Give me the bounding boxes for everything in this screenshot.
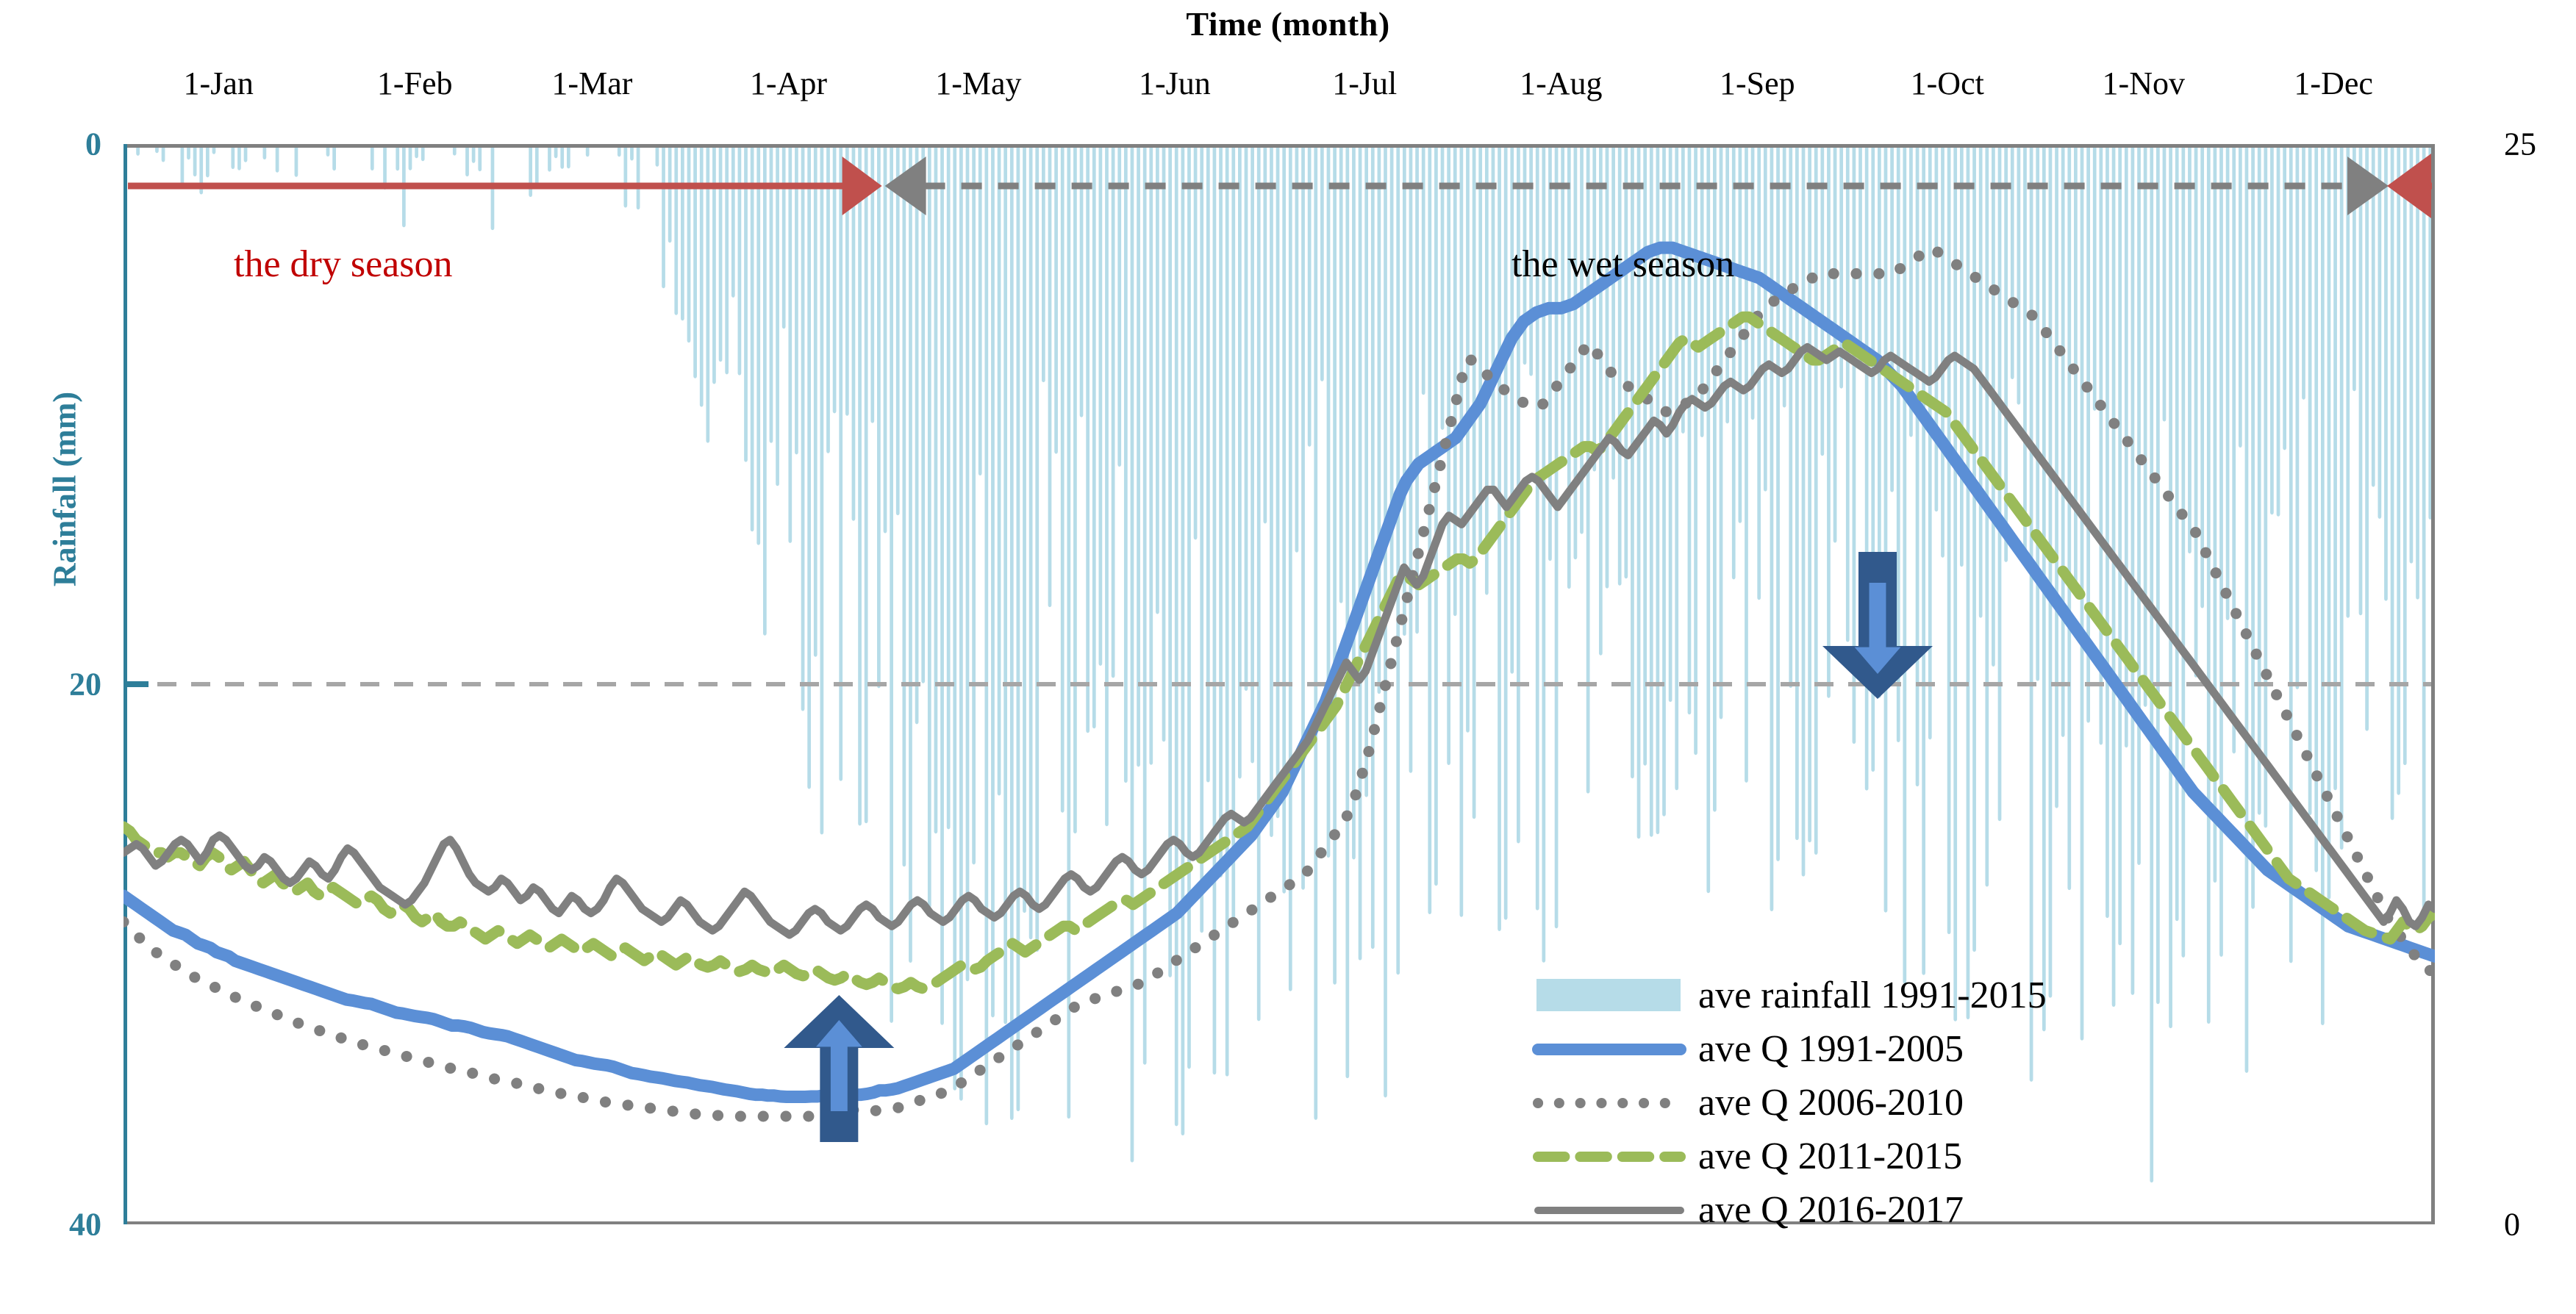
- legend-item-3[interactable]: ave Q 2011-2015: [1523, 1130, 2229, 1183]
- x-tick-1-jan: 1-Jan: [184, 65, 254, 102]
- x-tick-1-sep: 1-Sep: [1720, 65, 1795, 102]
- page-title: Time (month): [0, 4, 2576, 43]
- x-tick-1-mar: 1-Mar: [551, 65, 632, 102]
- legend-swatch-3: [1523, 1130, 1692, 1183]
- legend-line-swatch: [1523, 1183, 1692, 1237]
- legend-area-swatch: [1536, 979, 1681, 1011]
- x-tick-1-oct: 1-Oct: [1911, 65, 1984, 102]
- x-tick-1-feb: 1-Feb: [377, 65, 453, 102]
- legend: ave rainfall 1991-2015 ave Q 1991-2005av…: [1523, 969, 2229, 1237]
- legend-swatch-1: [1523, 1022, 1692, 1076]
- legend-label-0: ave rainfall 1991-2015: [1692, 974, 2047, 1017]
- legend-swatch-0: [1523, 969, 1692, 1022]
- legend-item-0[interactable]: ave rainfall 1991-2015: [1523, 969, 2229, 1022]
- x-tick-1-may: 1-May: [935, 65, 1021, 102]
- legend-swatch-4: [1523, 1183, 1692, 1237]
- right-y-tick-0: 0: [2504, 1206, 2520, 1243]
- chart-canvas: Time (month) 1-Jan1-Feb1-Mar1-Apr1-May1-…: [0, 0, 2576, 1314]
- left-axis-title: Rainfall (mm): [46, 357, 84, 622]
- legend-label-2: ave Q 2006-2010: [1692, 1081, 1964, 1124]
- legend-label-4: ave Q 2016-2017: [1692, 1188, 1964, 1232]
- right-y-tick-25: 25: [2504, 126, 2536, 163]
- wet-season-label: the wet season: [1511, 243, 1734, 286]
- legend-item-1[interactable]: ave Q 1991-2005: [1523, 1022, 2229, 1076]
- legend-swatch-2: [1523, 1076, 1692, 1130]
- legend-item-4[interactable]: ave Q 2016-2017: [1523, 1183, 2229, 1237]
- legend-line-swatch: [1523, 1076, 1692, 1130]
- legend-item-2[interactable]: ave Q 2006-2010: [1523, 1076, 2229, 1130]
- x-tick-1-nov: 1-Nov: [2103, 65, 2185, 102]
- legend-line-swatch: [1523, 1022, 1692, 1076]
- dry-season-label: the dry season: [234, 243, 452, 286]
- legend-label-3: ave Q 2011-2015: [1692, 1135, 1962, 1178]
- x-tick-1-jun: 1-Jun: [1139, 65, 1211, 102]
- left-y-tick-20: 20: [6, 666, 101, 703]
- legend-line-swatch: [1523, 1130, 1692, 1183]
- x-tick-1-apr: 1-Apr: [750, 65, 827, 102]
- x-tick-1-dec: 1-Dec: [2294, 65, 2373, 102]
- left-y-tick-0: 0: [6, 126, 101, 163]
- x-tick-1-jul: 1-Jul: [1332, 65, 1397, 102]
- legend-label-1: ave Q 1991-2005: [1692, 1027, 1964, 1071]
- left-y-tick-40: 40: [6, 1206, 101, 1243]
- x-tick-1-aug: 1-Aug: [1520, 65, 1602, 102]
